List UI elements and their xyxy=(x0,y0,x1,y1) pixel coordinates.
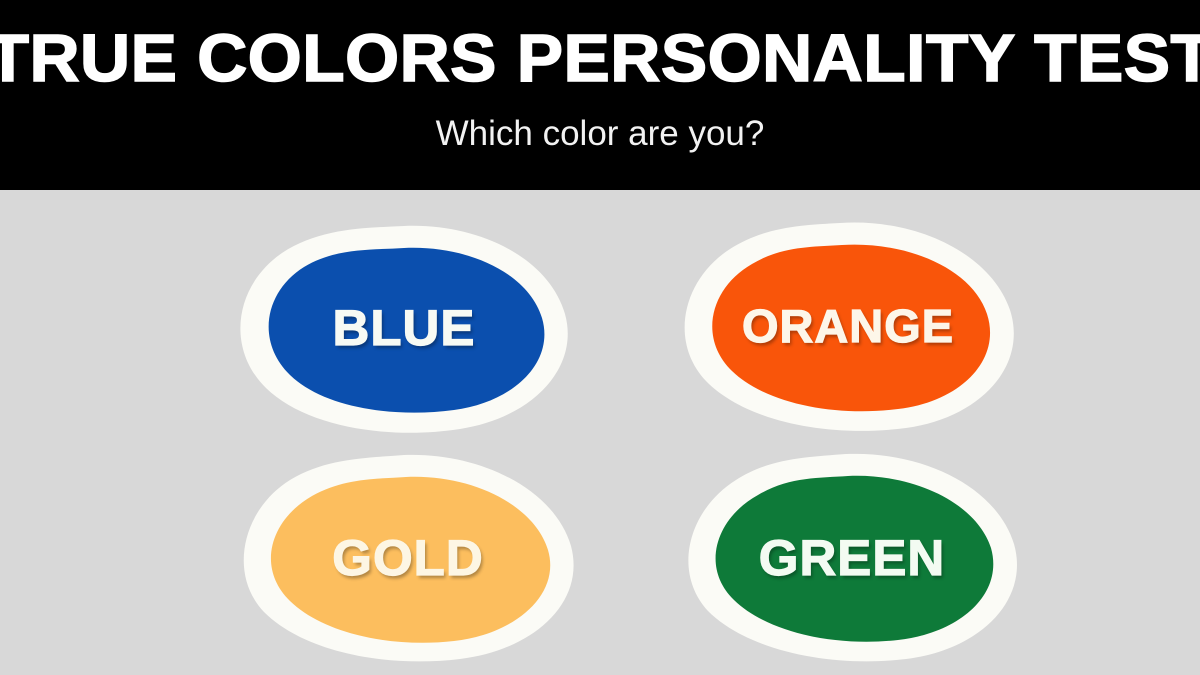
blob-shape-icon xyxy=(676,452,1028,664)
blob-shape-icon xyxy=(672,220,1024,432)
color-option-orange[interactable]: ORANGE xyxy=(672,220,1024,432)
color-option-gold[interactable]: GOLD xyxy=(232,452,584,664)
blob-fill-path xyxy=(269,248,545,413)
blob-fill-path xyxy=(712,245,990,412)
color-option-green[interactable]: GREEN xyxy=(676,452,1028,664)
blob-shape-icon xyxy=(232,452,584,664)
true-colors-personality-test-page: TRUE COLORS PERSONALITY TEST Which color… xyxy=(0,0,1200,675)
page-subtitle: Which color are you? xyxy=(0,113,1200,155)
page-title: TRUE COLORS PERSONALITY TEST xyxy=(0,22,1200,96)
color-option-blue[interactable]: BLUE xyxy=(228,222,580,434)
header-banner: TRUE COLORS PERSONALITY TEST Which color… xyxy=(0,0,1200,190)
color-options-board: BLUE ORANGE GOLD GREEN xyxy=(0,190,1200,675)
blob-shape-icon xyxy=(228,222,580,434)
